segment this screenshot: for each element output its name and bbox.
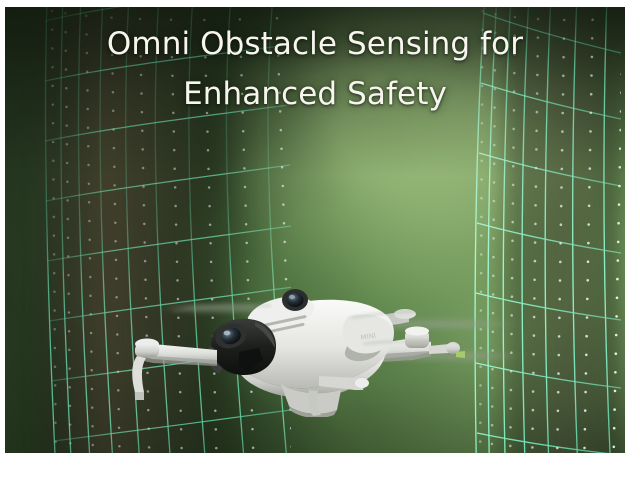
hero-photo: MINI [5,7,625,453]
gimbal-camera [207,319,276,375]
drone-arm-front-left [132,339,217,401]
drone-illustration: MINI [113,252,533,417]
slide-canvas: MINI [0,0,640,480]
drone-graphic: MINI [113,252,533,417]
